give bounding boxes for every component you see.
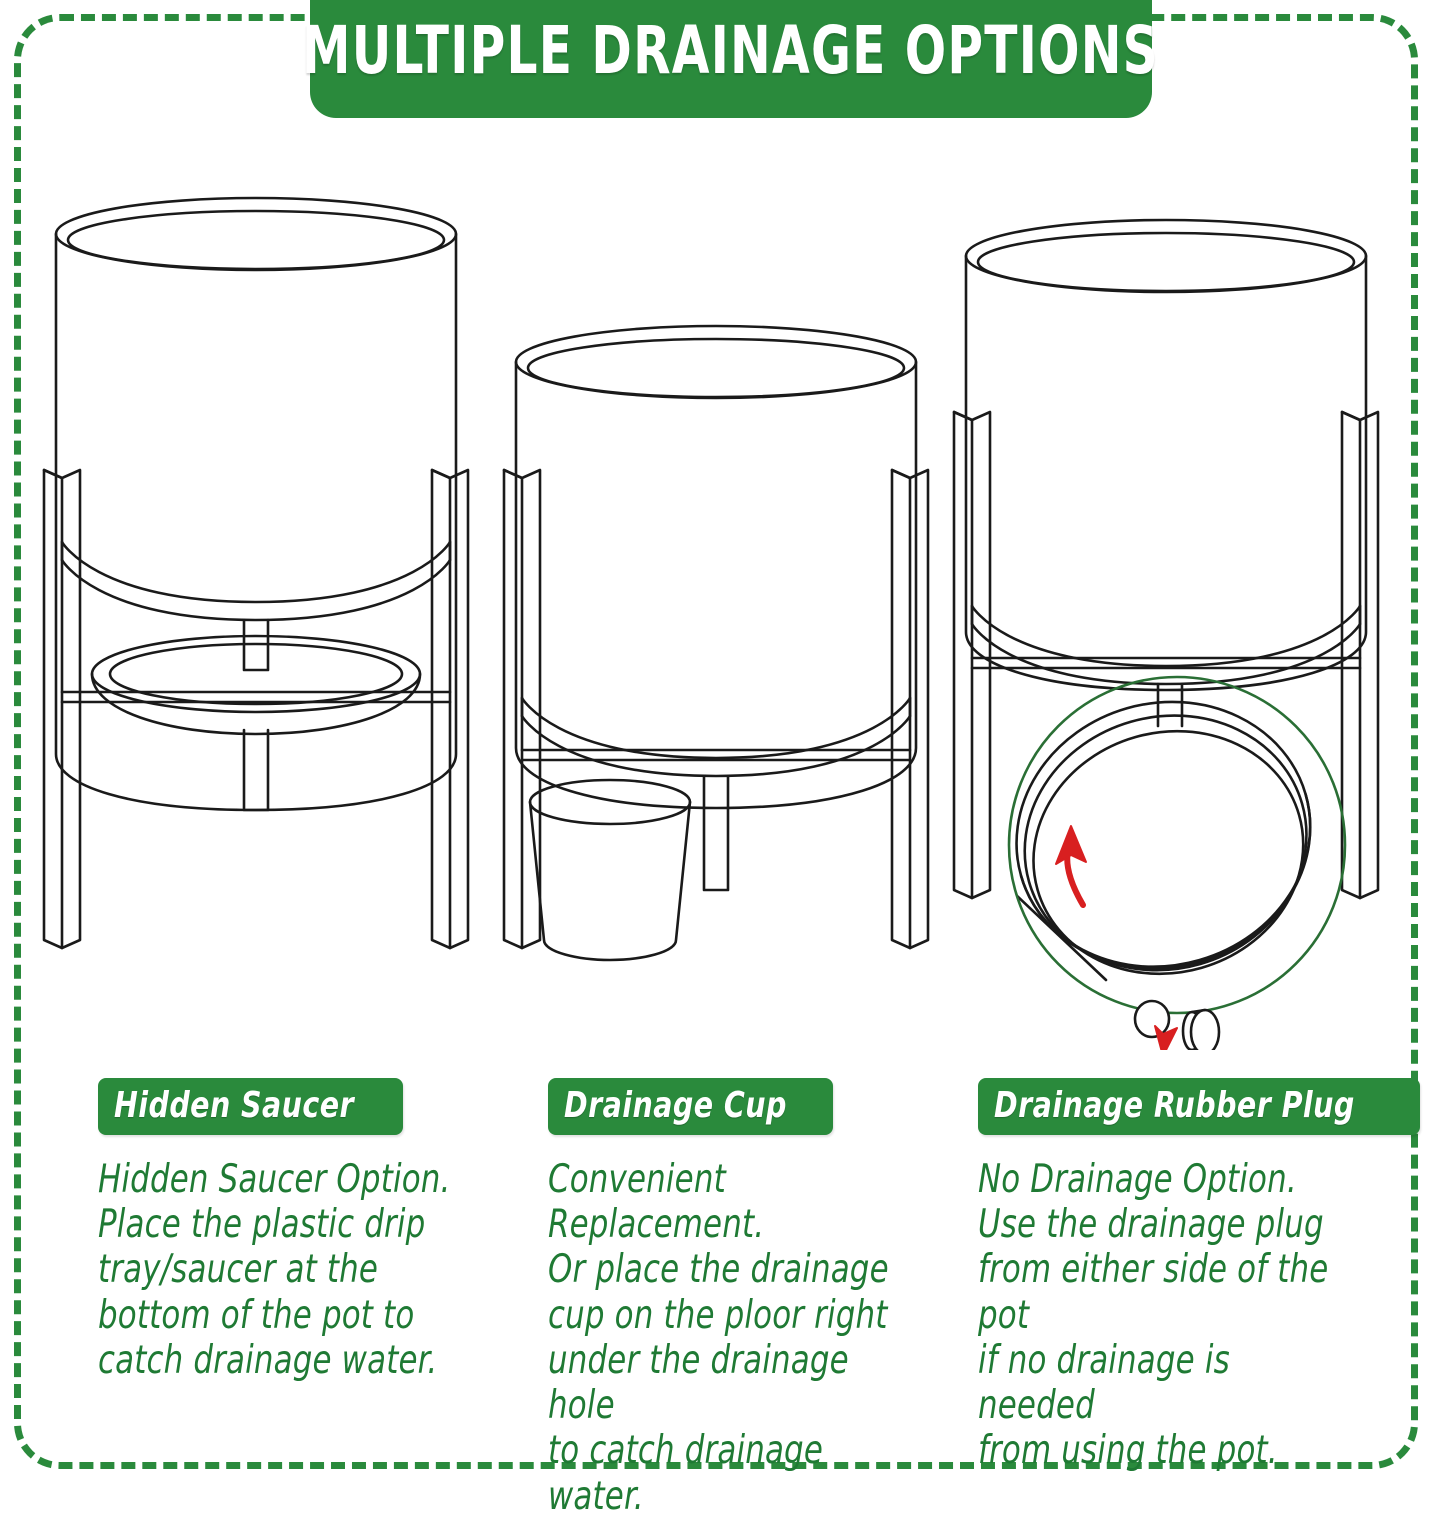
badge-label: Drainage Cup xyxy=(564,1085,787,1126)
badge-label: Drainage Rubber Plug xyxy=(994,1085,1355,1126)
captions-row: Hidden Saucer Hidden Saucer Option. Plac… xyxy=(0,1078,1445,1519)
drainage-cup-shape xyxy=(530,780,690,824)
illustrations-row xyxy=(0,150,1445,1050)
illustration-drainage-cup xyxy=(504,326,928,960)
detail-zoom-bubble xyxy=(985,667,1345,1050)
option-card-rubber-plug: Drainage Rubber Plug No Drainage Option.… xyxy=(978,1078,1398,1474)
infographic-canvas: MULTIPLE DRAINAGE OPTIONS xyxy=(0,0,1445,1490)
badge-drainage-rubber-plug: Drainage Rubber Plug xyxy=(978,1078,1420,1135)
description-hidden-saucer: Hidden Saucer Option. Place the plastic … xyxy=(98,1157,494,1383)
red-arrow-to-saucer xyxy=(1056,826,1086,905)
drainage-hole xyxy=(1135,1001,1169,1037)
badge-drainage-cup: Drainage Cup xyxy=(548,1078,833,1135)
badge-hidden-saucer: Hidden Saucer xyxy=(98,1078,403,1135)
badge-label: Hidden Saucer xyxy=(114,1085,354,1126)
description-rubber-plug: No Drainage Option. Use the drainage plu… xyxy=(978,1157,1348,1474)
description-drainage-cup: Convenient Replacement. Or place the dra… xyxy=(548,1157,918,1519)
header-banner: MULTIPLE DRAINAGE OPTIONS xyxy=(310,0,1152,118)
detail-circle-outline xyxy=(1009,677,1345,1013)
page-title: MULTIPLE DRAINAGE OPTIONS xyxy=(303,12,1160,89)
red-arrow-to-plug xyxy=(1155,1026,1185,1050)
illustrations-svg xyxy=(0,150,1445,1050)
illustration-rubber-plug xyxy=(954,220,1378,898)
option-card-drainage-cup: Drainage Cup Convenient Replacement. Or … xyxy=(548,1078,968,1519)
illustration-hidden-saucer xyxy=(44,198,468,948)
option-card-hidden-saucer: Hidden Saucer Hidden Saucer Option. Plac… xyxy=(98,1078,548,1383)
rubber-plug xyxy=(1183,1010,1219,1050)
